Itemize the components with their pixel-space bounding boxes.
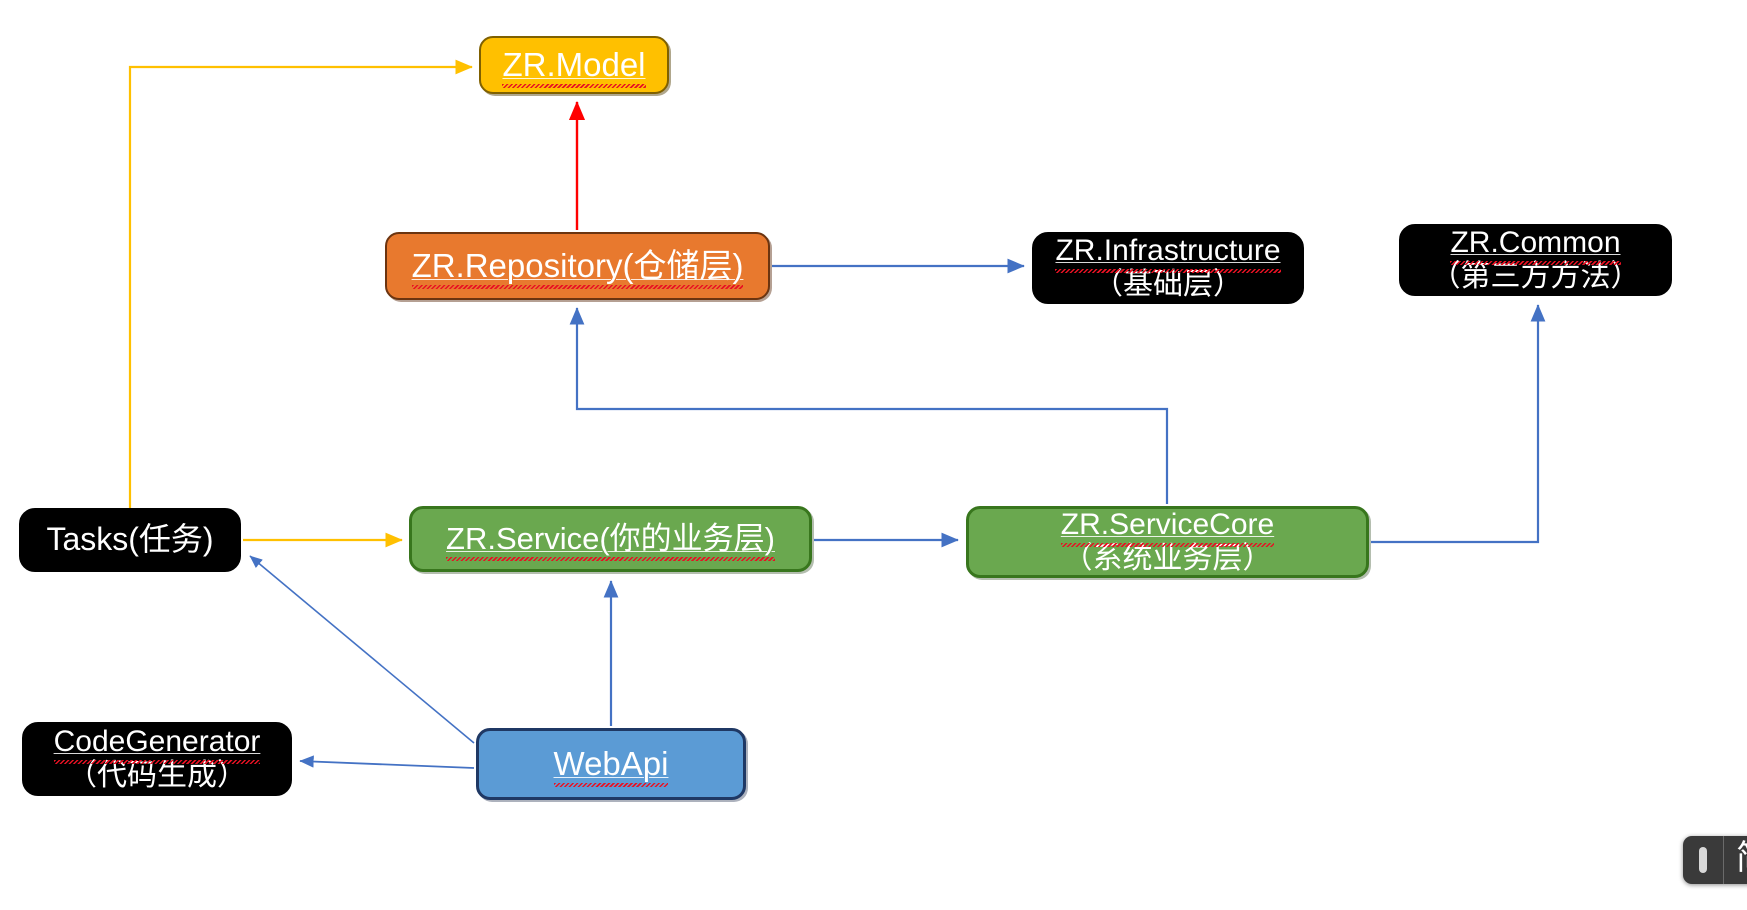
node-zr-model[interactable]: ZR.Model: [479, 36, 669, 94]
edge-servicecore-to-common: [1371, 305, 1538, 542]
node-zr-common[interactable]: ZR.Common （第三方方法）: [1399, 224, 1672, 296]
ime-cursor-icon: [1699, 847, 1707, 873]
edge-webapi-to-codegenerator: [300, 761, 474, 768]
node-zr-infrastructure-sublabel: （基础层）: [1093, 268, 1243, 302]
ime-indicator[interactable]: 简: [1683, 836, 1747, 884]
node-zr-servicecore-label: ZR.ServiceCore: [1061, 508, 1274, 542]
node-zr-repository[interactable]: ZR.Repository(仓储层): [385, 232, 770, 300]
node-tasks[interactable]: Tasks(任务): [19, 508, 241, 572]
node-zr-servicecore-sublabel: （系统业务层）: [1063, 542, 1273, 576]
node-codegenerator-label: CodeGenerator: [54, 725, 261, 759]
node-zr-infrastructure[interactable]: ZR.Infrastructure （基础层）: [1032, 232, 1304, 304]
node-tasks-label: Tasks(任务): [46, 522, 213, 558]
ime-mode-label[interactable]: 简: [1724, 837, 1747, 883]
edge-webapi-to-tasks: [250, 556, 474, 743]
node-zr-repository-label: ZR.Repository(仓储层): [412, 248, 744, 285]
node-zr-service[interactable]: ZR.Service(你的业务层): [409, 506, 812, 572]
node-codegenerator[interactable]: CodeGenerator （代码生成）: [22, 722, 292, 796]
node-webapi-label: WebApi: [554, 746, 669, 783]
node-zr-service-label: ZR.Service(你的业务层): [446, 522, 775, 557]
node-codegenerator-sublabel: （代码生成）: [67, 759, 247, 793]
node-zr-common-label: ZR.Common: [1450, 226, 1620, 260]
node-zr-infrastructure-label: ZR.Infrastructure: [1055, 234, 1280, 268]
node-zr-model-label: ZR.Model: [502, 47, 645, 84]
edge-servicecore-to-repository: [577, 308, 1167, 504]
node-webapi[interactable]: WebApi: [476, 728, 746, 800]
diagram-canvas: ZR.Model ZR.Repository(仓储层) ZR.Infrastru…: [0, 0, 1747, 910]
node-zr-common-sublabel: （第三方方法）: [1431, 260, 1641, 294]
node-zr-servicecore[interactable]: ZR.ServiceCore （系统业务层）: [966, 506, 1369, 578]
